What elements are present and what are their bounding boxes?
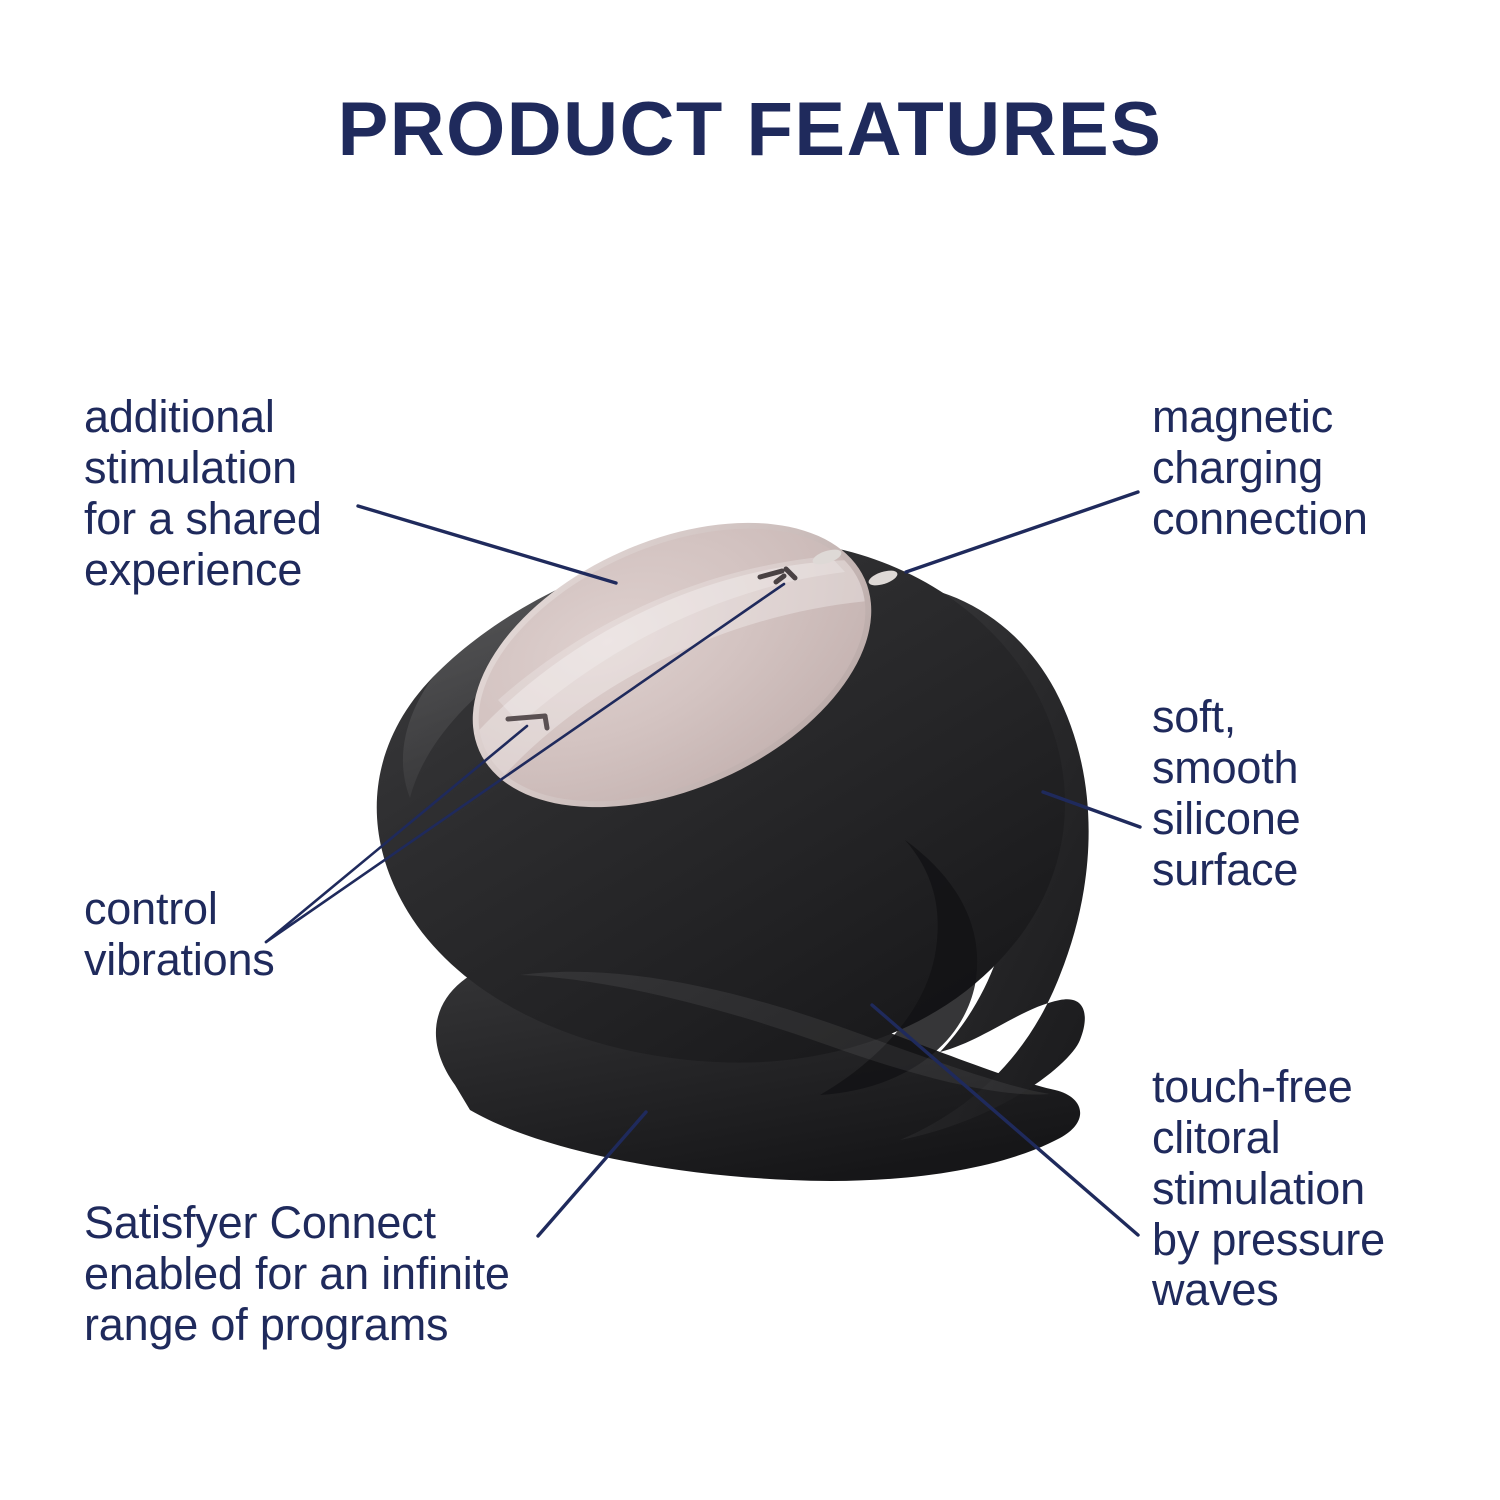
- leader-line-touch-free: [872, 1005, 1138, 1235]
- leader-lines: [266, 492, 1140, 1236]
- callout-control-vibrations: control vibrations: [84, 884, 414, 986]
- callout-touch-free: touch-free clitoral stimulation by press…: [1152, 1062, 1492, 1316]
- product-features-page: PRODUCT FEATURES: [0, 0, 1500, 1500]
- decrease-intensity-icon[interactable]: [508, 716, 547, 728]
- leader-line-magnetic-charging: [906, 492, 1138, 572]
- leader-line-soft-silicone: [1043, 792, 1140, 827]
- callout-soft-silicone: soft, smooth silicone surface: [1152, 692, 1482, 895]
- product-bulb-highlight: [403, 547, 820, 798]
- control-panel-face: [437, 474, 908, 856]
- product-lower-arm-highlight: [520, 972, 1050, 1095]
- control-panel-sheen-2: [498, 556, 845, 724]
- magnetic-charging-contacts: [811, 547, 899, 589]
- page-title: PRODUCT FEATURES: [0, 92, 1500, 168]
- callout-magnetic-charging: magnetic charging connection: [1152, 392, 1482, 545]
- product-top-bulb: [377, 540, 1065, 1063]
- product-inner-gap-shadow: [820, 840, 977, 1095]
- charging-contact-2: [867, 568, 899, 589]
- product-lower-arm: [436, 954, 1080, 1181]
- callout-additional-stimulation: additional stimulation for a shared expe…: [84, 392, 414, 595]
- control-panel-sheen: [470, 560, 880, 780]
- control-panel[interactable]: [429, 466, 915, 864]
- charging-contact-1: [811, 547, 843, 568]
- callout-satisfyer-connect: Satisfyer Connect enabled for an infinit…: [84, 1198, 684, 1351]
- control-panel-rim: [429, 466, 915, 864]
- product-right-arm: [838, 582, 1089, 1140]
- increase-intensity-icon[interactable]: [760, 569, 795, 582]
- product-body: [377, 466, 1089, 1181]
